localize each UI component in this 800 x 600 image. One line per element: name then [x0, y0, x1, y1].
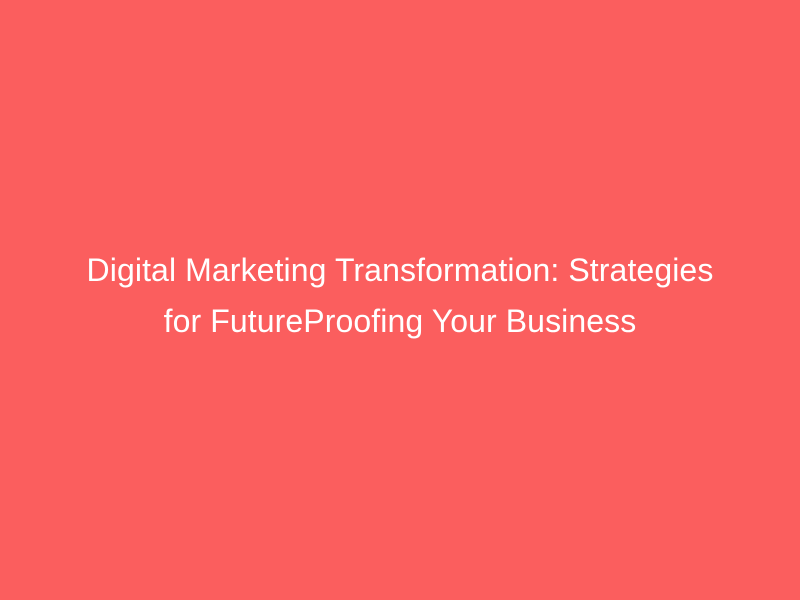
- page-title: Digital Marketing Transformation: Strate…: [87, 245, 714, 347]
- hero-card: Digital Marketing Transformation: Strate…: [0, 0, 800, 600]
- hero-content: Digital Marketing Transformation: Strate…: [50, 245, 750, 347]
